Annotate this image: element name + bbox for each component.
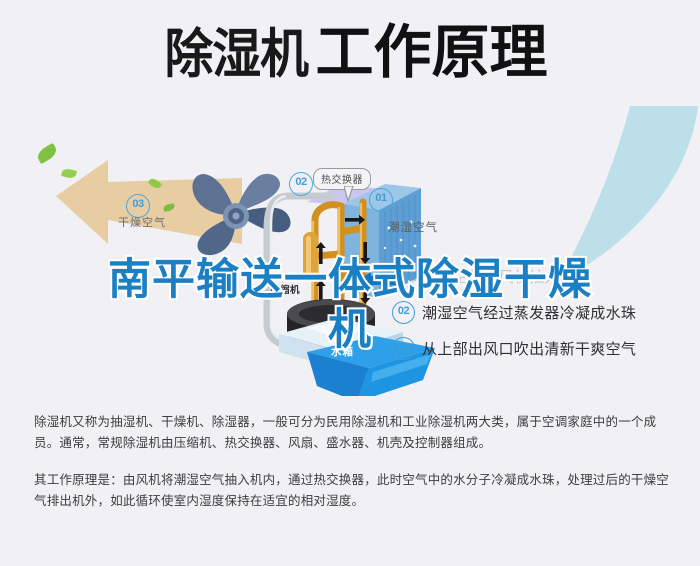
page-title-part2: 工作原理 (315, 24, 547, 82)
legend-item: 03 从上部出风口吹出清新干爽空气 (392, 337, 692, 360)
poster-root: 除湿机工作原理 (0, 0, 700, 566)
water-tank-label: 水箱 (331, 344, 354, 359)
legend-item: 02 潮湿空气经过蒸发器冷凝成水珠 (392, 301, 692, 324)
body-copy: 除湿机又称为抽湿机、干燥机、除湿器，一般可分为民用除湿机和工业除湿机两大类，属于… (34, 412, 670, 528)
legend-label: 潮湿空气由风机抽入机内 (422, 266, 590, 287)
dry-air-label: 干燥空气 (118, 214, 166, 230)
paragraph-1: 除湿机又称为抽湿机、干燥机、除湿器，一般可分为民用除湿机和工业除湿机两大类，属于… (34, 412, 670, 454)
humid-air-label: 潮湿空气 (388, 219, 438, 235)
paragraph-2: 其工作原理是：由风机将潮湿空气抽入机内，通过热交换器，此时空气中的水分子冷凝成水… (34, 470, 670, 512)
legend-item: 01 潮湿空气由风机抽入机内 (392, 265, 692, 288)
legend-number: 01 (392, 265, 415, 288)
heat-exchanger-callout: 热交换器 (313, 168, 371, 190)
legend-number: 02 (392, 301, 415, 324)
legend-label: 从上部出风口吹出清新干爽空气 (422, 338, 636, 359)
diagram-step-marker-01: 01 (369, 188, 393, 212)
legend-number: 03 (392, 337, 415, 360)
page-title: 除湿机工作原理 (0, 24, 700, 82)
diagram-stage: 热交换器 03 02 01 干燥空气 潮湿空气 压缩机 水箱 01 潮湿空气由风… (0, 116, 700, 406)
page-title-part1: 除湿机 (165, 28, 309, 81)
inflow-arrow-icon (357, 272, 397, 290)
compressor-label: 压缩机 (270, 282, 300, 296)
diagram-step-marker-02: 02 (289, 172, 313, 196)
legend-list: 01 潮湿空气由风机抽入机内 02 潮湿空气经过蒸发器冷凝成水珠 03 从上部出… (392, 265, 692, 373)
legend-label: 潮湿空气经过蒸发器冷凝成水珠 (422, 302, 636, 323)
callout-tail-icon (344, 186, 354, 202)
poster-header: 除湿机工作原理 (0, 0, 700, 116)
